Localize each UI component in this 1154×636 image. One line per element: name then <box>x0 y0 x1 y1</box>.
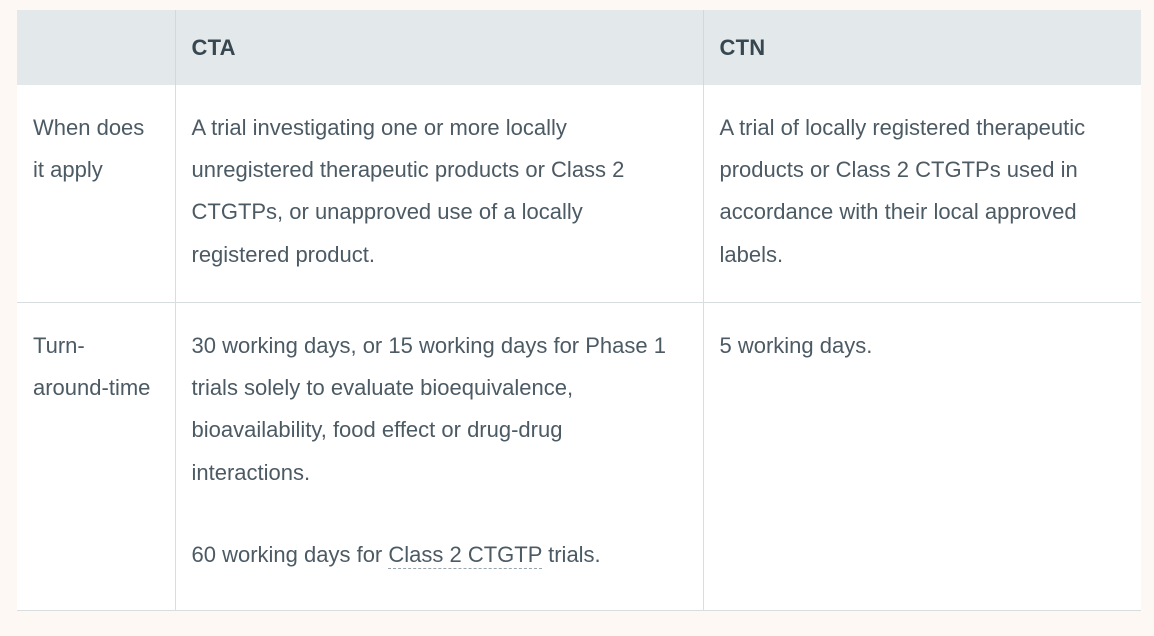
column-header-label <box>17 10 175 85</box>
cell-cta-turn-around-time: 30 working days, or 15 working days for … <box>175 302 703 610</box>
cta-ctn-comparison-table: CTA CTN When does it apply A trial inves… <box>17 10 1141 611</box>
cell-ctn-when-does-it-apply: A trial of locally registered therapeuti… <box>703 85 1141 302</box>
comparison-table-container: CTA CTN When does it apply A trial inves… <box>17 10 1141 611</box>
row-label-turn-around-time: Turn-around-time <box>17 302 175 610</box>
abbreviation-class-2-ctgtp[interactable]: Class 2 CTGTP <box>388 542 542 569</box>
page: CTA CTN When does it apply A trial inves… <box>0 0 1154 636</box>
cell-ctn-turn-around-time: 5 working days. <box>703 302 1141 610</box>
cell-paragraph-secondary: 60 working days for Class 2 CTGTP trials… <box>192 534 687 576</box>
table-row: Turn-around-time 30 working days, or 15 … <box>17 302 1141 610</box>
table-header: CTA CTN <box>17 10 1141 85</box>
cell-paragraph: A trial of locally registered therapeuti… <box>720 107 1126 276</box>
table-body: When does it apply A trial investigating… <box>17 85 1141 611</box>
table-header-row: CTA CTN <box>17 10 1141 85</box>
cell-paragraph-primary: 30 working days, or 15 working days for … <box>192 325 687 494</box>
paragraph-suffix-text: trials. <box>542 542 601 567</box>
paragraph-prefix-text: 60 working days for <box>192 542 389 567</box>
column-header-cta: CTA <box>175 10 703 85</box>
cell-paragraph: A trial investigating one or more locall… <box>192 107 687 276</box>
cell-cta-when-does-it-apply: A trial investigating one or more locall… <box>175 85 703 302</box>
column-header-ctn: CTN <box>703 10 1141 85</box>
row-label-when-does-it-apply: When does it apply <box>17 85 175 302</box>
table-row: When does it apply A trial investigating… <box>17 85 1141 302</box>
cell-paragraph: 5 working days. <box>720 325 1126 367</box>
